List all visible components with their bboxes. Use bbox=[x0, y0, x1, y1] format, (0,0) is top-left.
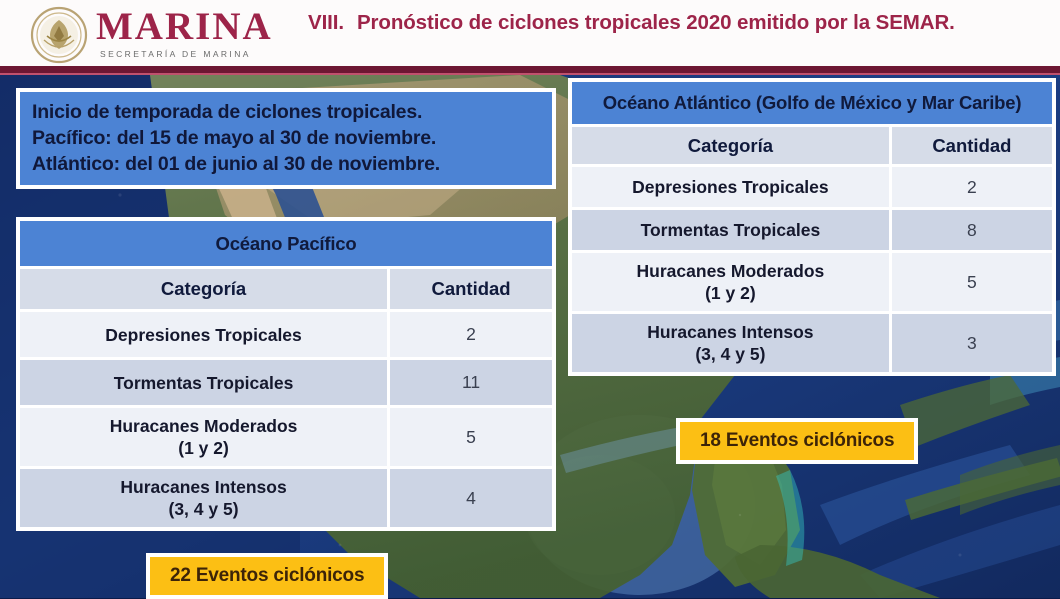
atlantic-row-2-category: Huracanes Moderados (1 y 2) bbox=[572, 253, 889, 311]
pacific-row-2-quantity: 5 bbox=[387, 408, 552, 466]
atlantic-row-2-quantity: 5 bbox=[889, 253, 1052, 311]
marina-subtitle: SECRETARÍA DE MARINA bbox=[100, 49, 251, 59]
header-divider-rule bbox=[0, 66, 1060, 73]
pacific-row-1-quantity: 11 bbox=[387, 360, 552, 405]
atlantic-total-label: 18 Eventos ciclónicos bbox=[680, 422, 914, 460]
pacific-row-0-quantity: 2 bbox=[387, 312, 552, 357]
page-header: MARINA SECRETARÍA DE MARINA VIII.Pronóst… bbox=[0, 0, 1060, 66]
pacific-row-2-category: Huracanes Moderados (1 y 2) bbox=[20, 408, 387, 466]
section-number: VIII. bbox=[308, 11, 344, 34]
atlantic-row-1-quantity: 8 bbox=[889, 210, 1052, 250]
pacific-total-label: 22 Eventos ciclónicos bbox=[150, 557, 384, 595]
atlantic-row-3-category-sub: (3, 4 y 5) bbox=[695, 344, 765, 364]
atlantic-row-1-category: Tormentas Tropicales bbox=[572, 210, 889, 250]
info-line-3: Atlántico: del 01 de junio al 30 de novi… bbox=[32, 151, 542, 177]
info-line-2: Pacífico: del 15 de mayo al 30 de noviem… bbox=[32, 125, 542, 151]
table-row: Huracanes Intensos (3, 4 y 5) 3 bbox=[572, 314, 1052, 372]
pacific-row-0-category: Depresiones Tropicales bbox=[20, 312, 387, 357]
atlantic-row-2-category-main: Huracanes Moderados bbox=[637, 261, 825, 281]
pacific-row-2-category-main: Huracanes Moderados bbox=[110, 416, 298, 436]
info-line-1: Inicio de temporada de ciclones tropical… bbox=[32, 99, 542, 125]
atlantic-col-cantidad: Cantidad bbox=[889, 127, 1052, 164]
atlantic-table-title: Océano Atlántico (Golfo de México y Mar … bbox=[572, 82, 1052, 124]
table-row: Tormentas Tropicales 8 bbox=[572, 210, 1052, 250]
pacific-row-2-category-sub: (1 y 2) bbox=[178, 438, 229, 458]
atlantic-table-header-row: Categoría Cantidad bbox=[572, 127, 1052, 164]
atlantic-row-3-quantity: 3 bbox=[889, 314, 1052, 372]
table-row: Depresiones Tropicales 2 bbox=[20, 312, 552, 357]
table-row: Huracanes Moderados (1 y 2) 5 bbox=[20, 408, 552, 466]
pacific-col-categoria: Categoría bbox=[20, 269, 387, 309]
atlantic-row-0-category: Depresiones Tropicales bbox=[572, 167, 889, 207]
table-row: Huracanes Moderados (1 y 2) 5 bbox=[572, 253, 1052, 311]
pacific-row-3-category-sub: (3, 4 y 5) bbox=[169, 499, 239, 519]
pacific-total-badge: 22 Eventos ciclónicos bbox=[146, 553, 388, 599]
pacific-table-header-row: Categoría Cantidad bbox=[20, 269, 552, 309]
page-title: VIII.Pronóstico de ciclones tropicales 2… bbox=[308, 8, 1008, 37]
pacific-row-3-quantity: 4 bbox=[387, 469, 552, 527]
pacific-forecast-table: Océano Pacífico Categoría Cantidad Depre… bbox=[16, 217, 556, 531]
pacific-row-3-category: Huracanes Intensos (3, 4 y 5) bbox=[20, 469, 387, 527]
mexican-eagle-seal-icon bbox=[30, 6, 88, 64]
table-row: Depresiones Tropicales 2 bbox=[572, 167, 1052, 207]
atlantic-row-2-category-sub: (1 y 2) bbox=[705, 283, 756, 303]
title-text: Pronóstico de ciclones tropicales 2020 e… bbox=[357, 11, 955, 34]
pacific-row-1-category: Tormentas Tropicales bbox=[20, 360, 387, 405]
marina-wordmark: MARINA bbox=[96, 6, 273, 48]
atlantic-forecast-table: Océano Atlántico (Golfo de México y Mar … bbox=[568, 78, 1056, 376]
season-info-box: Inicio de temporada de ciclones tropical… bbox=[16, 88, 556, 189]
atlantic-row-0-quantity: 2 bbox=[889, 167, 1052, 207]
pacific-row-3-category-main: Huracanes Intensos bbox=[120, 477, 286, 497]
pacific-table-title: Océano Pacífico bbox=[20, 221, 552, 266]
atlantic-col-categoria: Categoría bbox=[572, 127, 889, 164]
atlantic-row-3-category: Huracanes Intensos (3, 4 y 5) bbox=[572, 314, 889, 372]
atlantic-row-3-category-main: Huracanes Intensos bbox=[647, 322, 813, 342]
header-divider-rule-accent bbox=[0, 73, 1060, 75]
marina-logo: MARINA SECRETARÍA DE MARINA bbox=[18, 2, 288, 66]
table-row: Huracanes Intensos (3, 4 y 5) 4 bbox=[20, 469, 552, 527]
atlantic-total-badge: 18 Eventos ciclónicos bbox=[676, 418, 918, 464]
pacific-col-cantidad: Cantidad bbox=[387, 269, 552, 309]
table-row: Tormentas Tropicales 11 bbox=[20, 360, 552, 405]
